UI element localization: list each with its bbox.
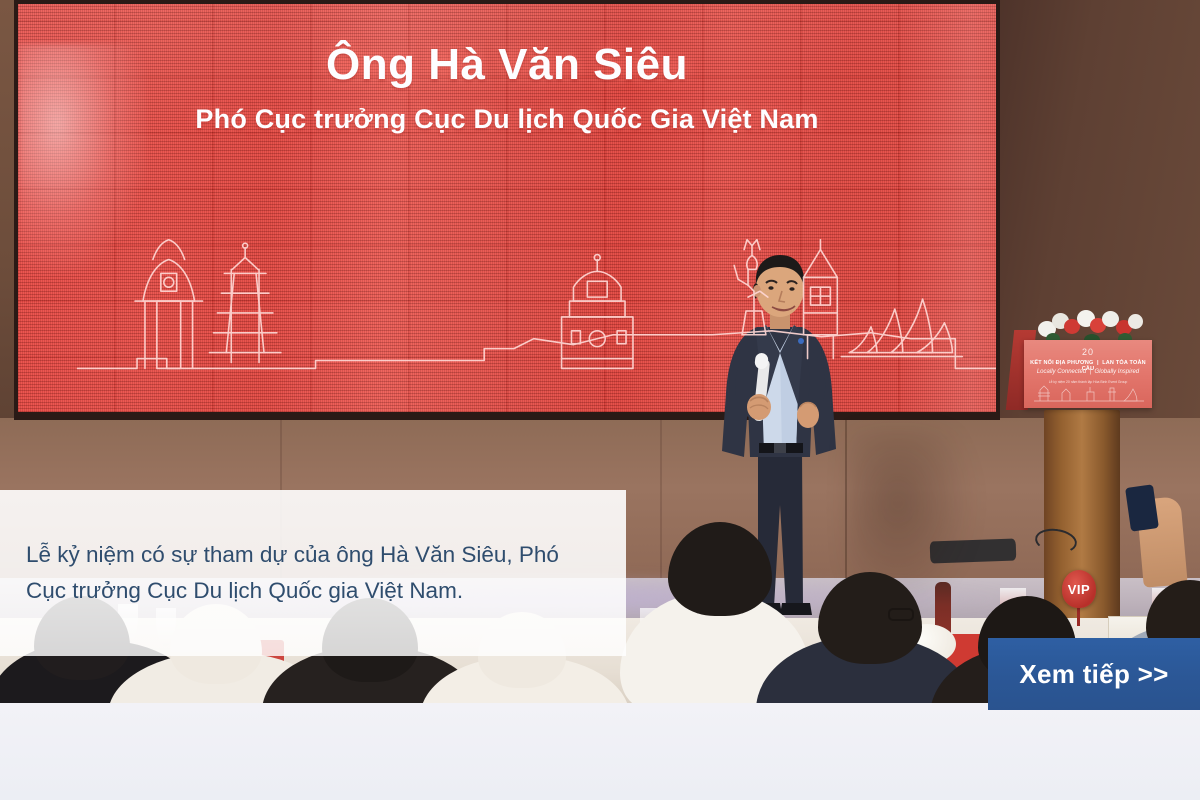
footer-bar <box>0 703 1200 800</box>
eyeglasses <box>888 608 914 621</box>
podium-slogan-en: Locally Connected | Globally Inspired <box>1024 369 1152 375</box>
temple-gate-icon <box>135 240 202 369</box>
read-more-button[interactable]: Xem tiếp >> <box>988 638 1200 710</box>
sydney-opera-house-icon <box>841 299 962 356</box>
pagoda-icon <box>209 243 280 362</box>
photo-card: Ông Hà Văn Siêu Phó Cục trưởng Cục Du lị… <box>0 0 1200 800</box>
caption-text: Lễ kỷ niệm có sự tham dự của ông Hà Văn … <box>26 537 600 610</box>
statue-of-liberty-icon <box>734 240 768 335</box>
speaker-role-subtitle: Phó Cục trưởng Cục Du lịch Quốc Gia Việt… <box>18 104 996 135</box>
led-screen-frame: Ông Hà Văn Siêu Phó Cục trưởng Cục Du lị… <box>14 0 1000 420</box>
podium-banner: 20 KẾT NỐI ĐỊA PHƯƠNG | LAN TỎA TOÀN CẦU… <box>1024 340 1152 408</box>
caption-overlay: Lễ kỷ niệm có sự tham dự của ông Hà Văn … <box>0 490 626 656</box>
podium-skyline-icon <box>1032 384 1144 402</box>
colonial-building-icon <box>562 255 633 369</box>
speaker-name-title: Ông Hà Văn Siêu <box>18 40 996 90</box>
vip-table-sign: VIP <box>1062 570 1096 608</box>
big-ben-icon <box>804 240 838 359</box>
smartphone <box>1125 484 1159 531</box>
anniversary-mark: 20 <box>1024 347 1152 357</box>
led-screen: Ông Hà Văn Siêu Phó Cục trưởng Cục Du lị… <box>18 4 996 412</box>
